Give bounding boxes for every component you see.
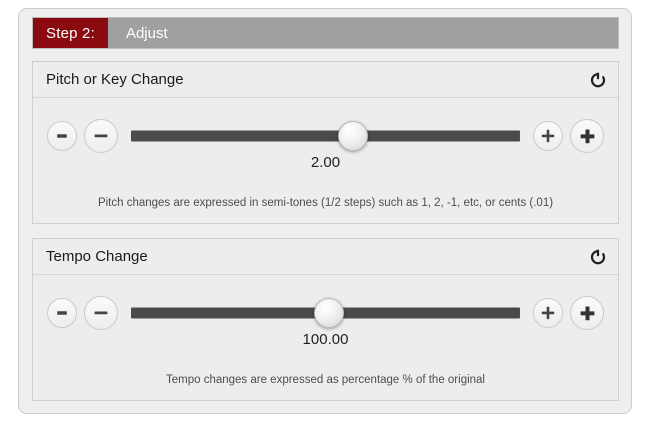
tempo-slider-thumb[interactable]	[314, 298, 344, 328]
pitch-increment-large-button[interactable]	[570, 119, 604, 153]
minus-icon	[54, 305, 70, 321]
pitch-card-header: Pitch or Key Change	[33, 62, 618, 98]
minus-thin-icon	[92, 127, 110, 145]
pitch-decrement-small-button[interactable]	[84, 119, 118, 153]
pitch-slider-track[interactable]	[131, 131, 520, 142]
step-number-badge: Step 2:	[33, 18, 108, 48]
tempo-help-text: Tempo changes are expressed as percentag…	[33, 374, 618, 386]
adjust-panel: Step 2: Adjust Pitch or Key Change	[18, 8, 632, 414]
plus-icon	[578, 304, 597, 323]
tempo-decrement-large-button[interactable]	[47, 298, 77, 328]
step-title: Adjust	[108, 18, 168, 48]
reset-circular-arrow-icon	[588, 70, 608, 90]
reset-tempo-button[interactable]	[587, 246, 609, 268]
tempo-card-title: Tempo Change	[33, 248, 148, 265]
pitch-slider-thumb[interactable]	[338, 121, 368, 151]
plus-thin-icon	[539, 304, 557, 322]
pitch-slider-row: 2.00	[33, 108, 618, 164]
reset-pitch-button[interactable]	[587, 69, 609, 91]
pitch-change-card: Pitch or Key Change	[32, 61, 619, 224]
minus-thin-icon	[92, 304, 110, 322]
pitch-slider[interactable]: 2.00	[131, 119, 520, 153]
plus-icon	[578, 127, 597, 146]
tempo-value-label: 100.00	[303, 331, 349, 348]
pitch-value-label: 2.00	[311, 154, 340, 171]
tempo-slider[interactable]: 100.00	[131, 296, 520, 330]
minus-icon	[54, 128, 70, 144]
pitch-help-text: Pitch changes are expressed in semi-tone…	[33, 197, 618, 209]
step-header-bar: Step 2: Adjust	[32, 17, 619, 49]
pitch-card-title: Pitch or Key Change	[33, 71, 184, 88]
tempo-increment-small-button[interactable]	[533, 298, 563, 328]
tempo-increment-large-button[interactable]	[570, 296, 604, 330]
tempo-slider-row: 100.00	[33, 285, 618, 341]
tempo-card-header: Tempo Change	[33, 239, 618, 275]
reset-circular-arrow-icon	[588, 247, 608, 267]
tempo-change-card: Tempo Change	[32, 238, 619, 401]
pitch-decrement-large-button[interactable]	[47, 121, 77, 151]
pitch-increment-small-button[interactable]	[533, 121, 563, 151]
plus-thin-icon	[539, 127, 557, 145]
tempo-decrement-small-button[interactable]	[84, 296, 118, 330]
